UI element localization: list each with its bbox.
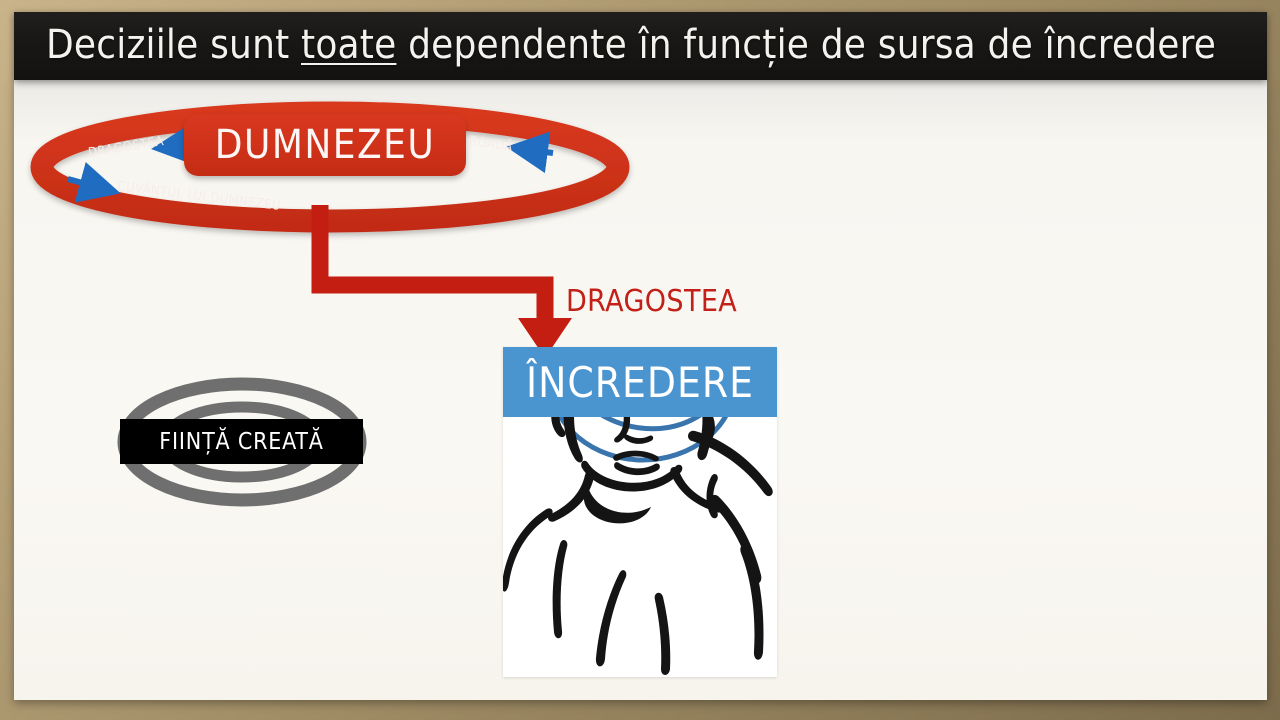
- flow-arrow-label: DRAGOSTEA: [566, 284, 737, 319]
- created-being-label: FIINȚĂ CREATĂ: [159, 429, 323, 455]
- source-center-label: DUMNEZEU: [215, 122, 436, 168]
- trust-banner[interactable]: ÎNCREDERE: [503, 347, 777, 417]
- title-part-before: Deciziile sunt: [46, 22, 301, 68]
- created-being-box[interactable]: FIINȚĂ CREATĂ: [120, 419, 363, 464]
- title-part-after: dependente în funcție de sursa de încred…: [396, 22, 1216, 68]
- page-title: Deciziile sunt toate dependente în funcț…: [46, 20, 1216, 70]
- slide-title-bar: Deciziile sunt toate dependente în funcț…: [14, 12, 1267, 80]
- source-center-box[interactable]: DUMNEZEU: [184, 114, 466, 176]
- slide-root: Deciziile sunt toate dependente în funcț…: [0, 0, 1280, 720]
- title-part-underlined: toate: [301, 22, 396, 68]
- trust-banner-label: ÎNCREDERE: [526, 358, 754, 407]
